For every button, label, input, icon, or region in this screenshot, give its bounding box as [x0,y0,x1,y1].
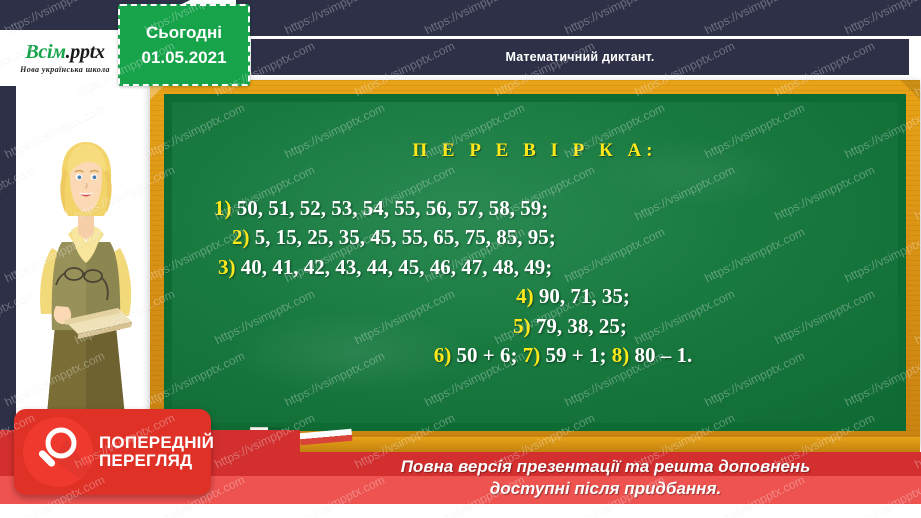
answer-text: 90, 71, 35; [534,284,630,308]
logo-wordmark-suffix: .pptx [66,41,105,63]
banner-line-1: Повна версія презентації та решта доповн… [401,456,811,478]
answer-line-combined: 6) 50 + 6; 7) 59 + 1; 8) 80 – 1. [158,341,912,370]
answer-number: 7) [523,343,541,367]
date-badge: Сьогодні 01.05.2021 [118,4,250,86]
preview-badge: ПОПЕРЕДНІЙ ПЕРЕГЛЯД [14,409,211,495]
answer-text: 50, 51, 52, 53, 54, 55, 56, 57, 58, 59; [232,196,549,220]
page-title: Математичний диктант. [505,50,654,64]
preview-badge-line-2: ПЕРЕГЛЯД [99,452,214,470]
purchase-banner: Повна версія презентації та решта доповн… [290,453,921,503]
chalkboard-content: П Е Р Е В І Р К А: 1) 50, 51, 52, 53, 54… [158,88,912,437]
footer-white-strip [0,504,921,518]
preview-badge-line-1: ПОПЕРЕДНІЙ [99,434,214,452]
date-badge-date: 01.05.2021 [141,45,226,71]
logo-wordmark: Всім.pptx [25,42,104,62]
answer-number: 6) [434,343,452,367]
answer-text: 50 + 6; [451,343,522,367]
chalkboard: П Е Р Е В І Р К А: 1) 50, 51, 52, 53, 54… [150,80,920,445]
check-heading: П Е Р Е В І Р К А: [158,140,912,162]
answer-text: 59 + 1; [540,343,611,367]
answer-number: 8) [612,343,630,367]
answer-number: 1) [214,196,232,220]
navy-top-left-panel [0,0,130,30]
logo-wordmark-prefix: Всім [25,41,65,63]
preview-icon-circle [23,417,93,487]
answer-number: 2) [232,225,250,249]
answer-number: 3) [218,255,236,279]
answer-text: 5, 15, 25, 35, 45, 55, 65, 75, 85, 95; [250,225,556,249]
answer-text: 40, 41, 42, 43, 44, 45, 46, 47, 48, 49; [236,255,553,279]
answer-text: 80 – 1. [629,343,692,367]
banner-line-2: доступні після придбання. [490,478,721,500]
slide-title-bar: Математичний диктант. [250,38,910,76]
preview-badge-text: ПОПЕРЕДНІЙ ПЕРЕГЛЯД [99,434,214,471]
answer-line: 4) 90, 71, 35; [158,282,912,311]
answer-lines: 1) 50, 51, 52, 53, 54, 55, 56, 57, 58, 5… [158,194,912,370]
navy-top-right-panel [236,0,921,36]
answer-line: 1) 50, 51, 52, 53, 54, 55, 56, 57, 58, 5… [158,194,912,223]
date-badge-label: Сьогодні [146,20,222,46]
site-logo: Всім.pptx Нова українська школа [0,30,130,86]
logo-subtitle: Нова українська школа [20,65,110,74]
slide-root: Всім.pptx Нова українська школа Сьогодні… [0,0,921,518]
answer-line: 5) 79, 38, 25; [158,312,912,341]
answer-line: 3) 40, 41, 42, 43, 44, 45, 46, 47, 48, 4… [158,253,912,282]
answer-line: 2) 5, 15, 25, 35, 45, 55, 65, 75, 85, 95… [158,223,912,252]
magnifier-icon [23,417,93,487]
answer-number: 4) [516,284,534,308]
answer-text: 79, 38, 25; [531,314,627,338]
answer-number: 5) [513,314,531,338]
teacher-illustration [8,130,163,430]
teacher-figure [40,142,132,426]
